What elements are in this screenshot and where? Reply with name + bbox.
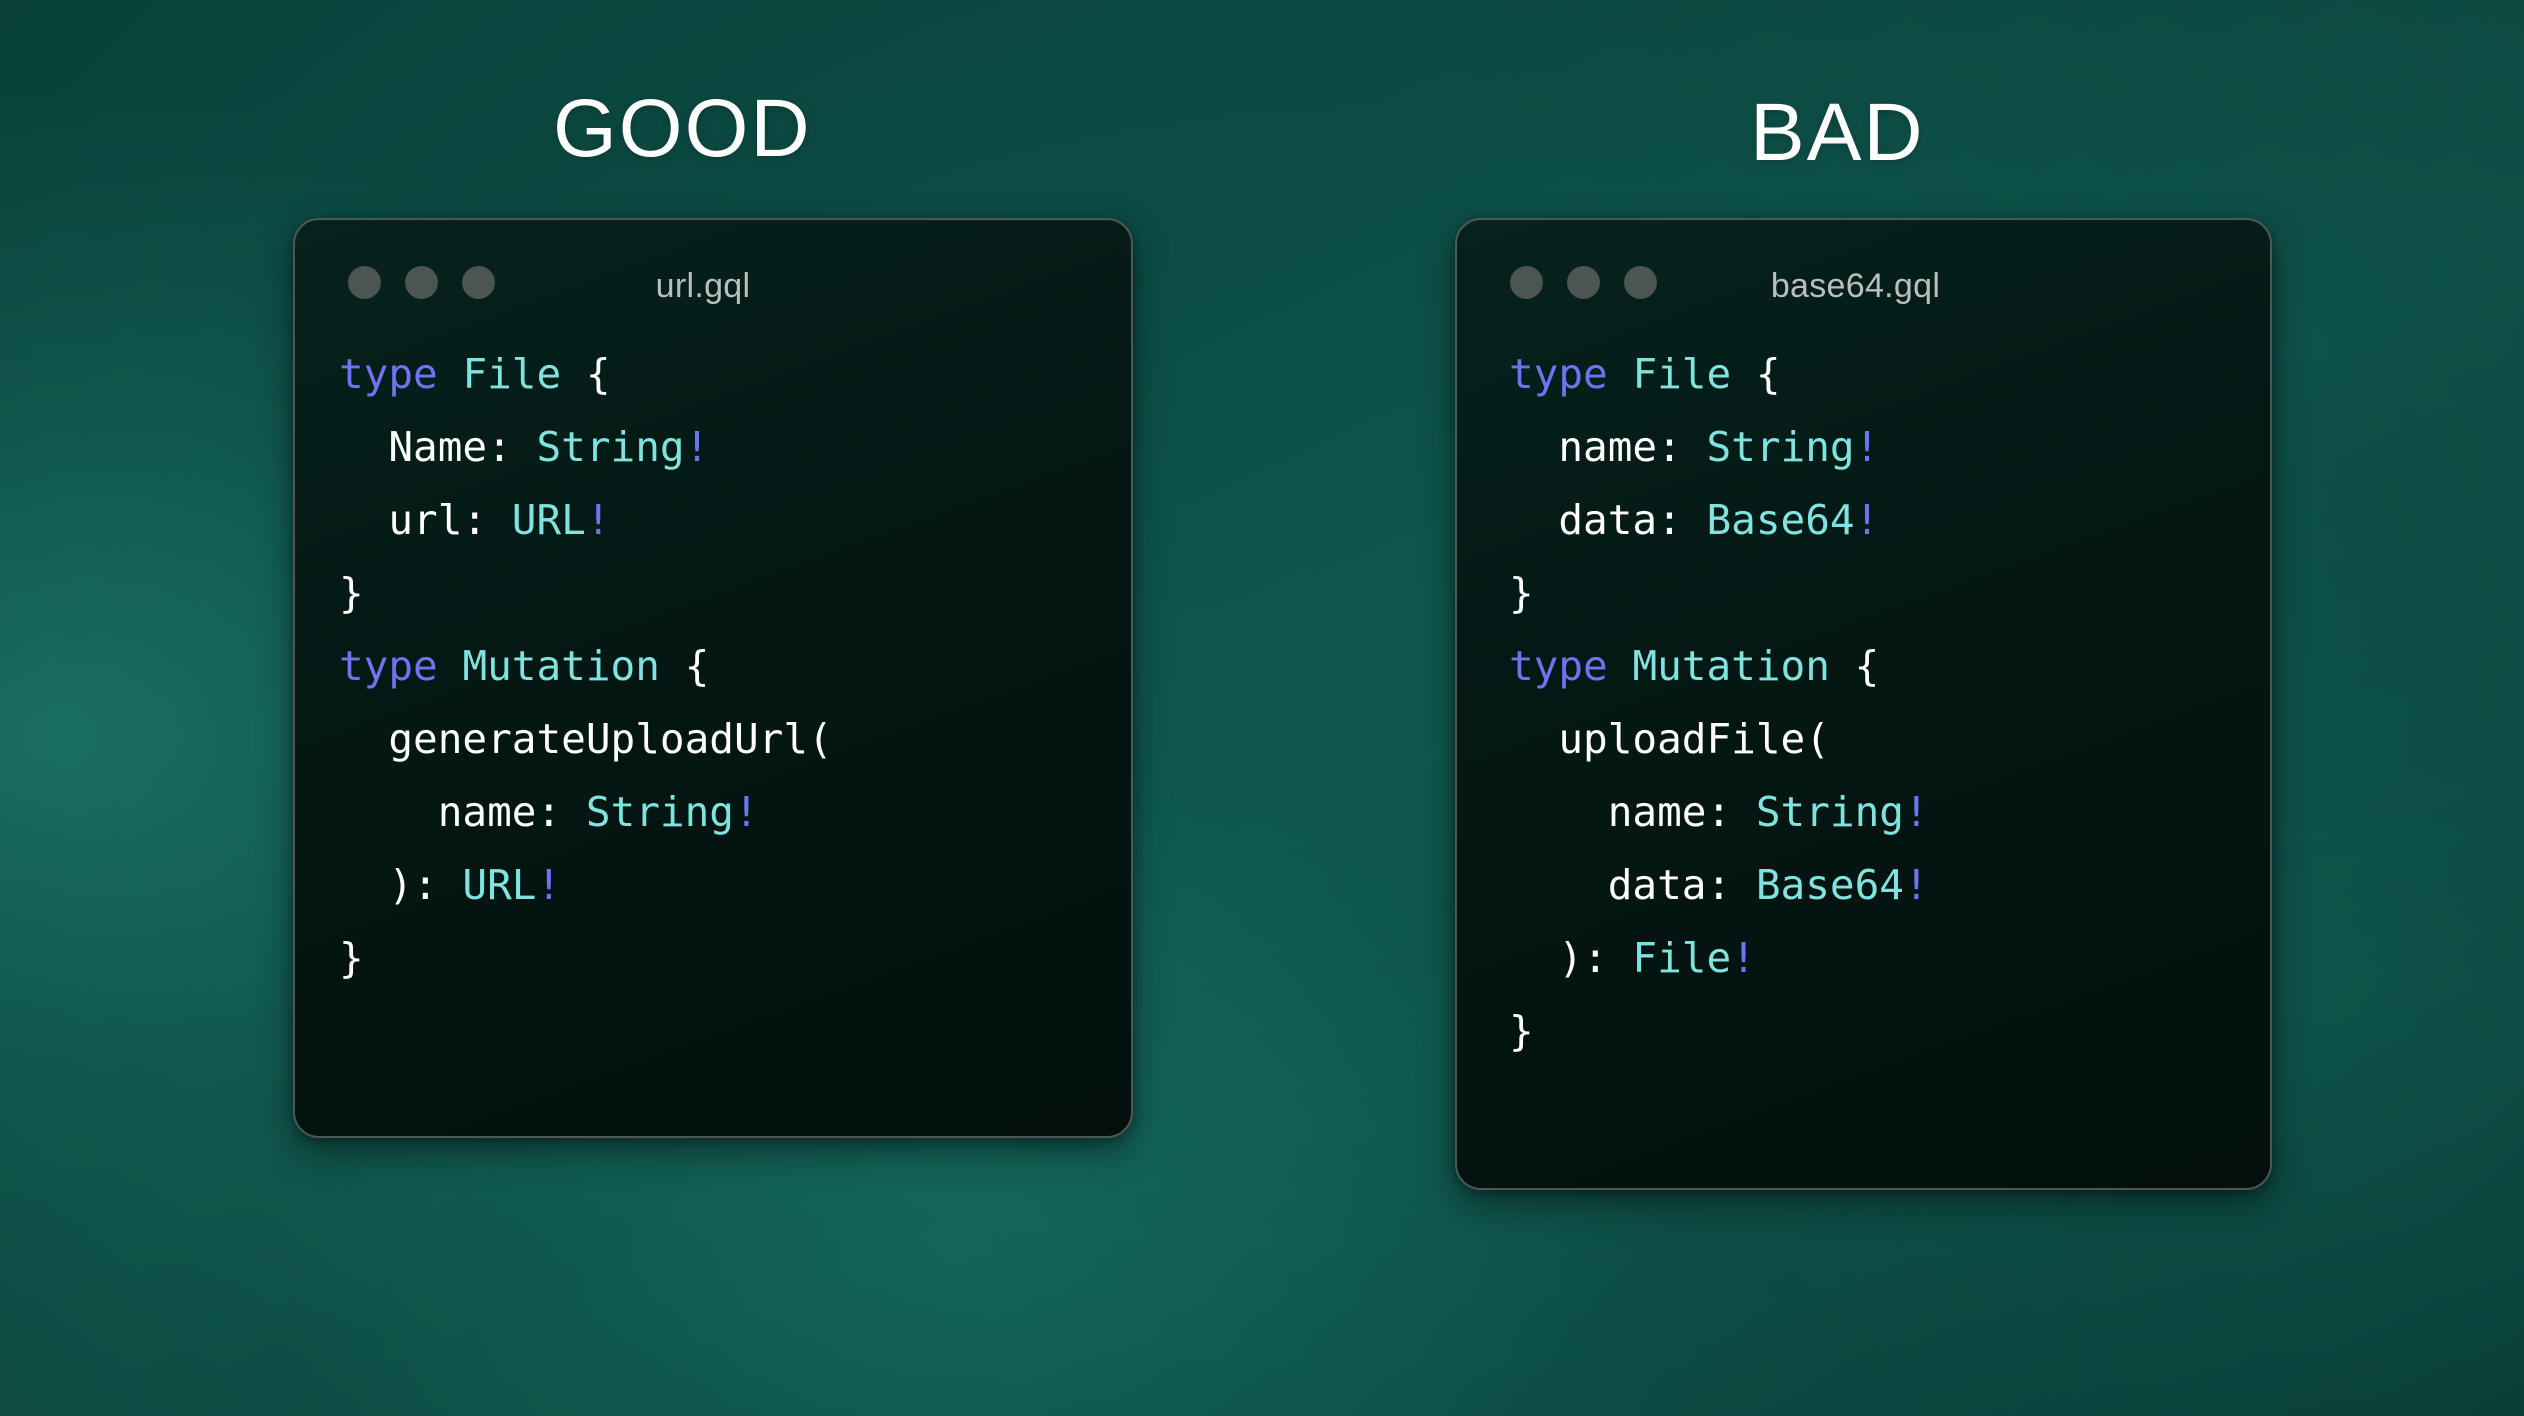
code-token-punct: { [1731, 350, 1780, 398]
code-card-good: url.gql type File { Name: String! url: U… [293, 218, 1133, 1138]
code-token-punct: { [660, 642, 709, 690]
code-token-kw: type [1509, 642, 1608, 690]
code-token-bang: ! [536, 861, 561, 909]
code-block-good: type File { Name: String! url: URL!}type… [295, 332, 1131, 995]
code-token-punct [1608, 350, 1633, 398]
code-line: Name: String! [339, 411, 1131, 484]
code-token-type: Mutation [462, 642, 659, 690]
code-token-name: name: [1509, 423, 1706, 471]
code-card-filename-good: url.gql [295, 267, 1131, 306]
code-token-name: url: [339, 496, 512, 544]
code-line: data: Base64! [1509, 484, 2270, 557]
comparison-stage: GOOD url.gql type File { Name: String! u… [0, 0, 2524, 1416]
code-token-name: Name: [339, 423, 536, 471]
code-line: name: String! [1509, 411, 2270, 484]
code-token-type: File [1632, 350, 1731, 398]
code-token-punct [438, 350, 463, 398]
code-line: type File { [339, 338, 1131, 411]
code-token-type: URL [512, 496, 586, 544]
code-token-punct: } [1509, 569, 1534, 617]
code-token-bang: ! [734, 788, 759, 836]
code-line: name: String! [1509, 776, 2270, 849]
column-heading-good: GOOD [553, 88, 812, 170]
code-token-type: String [1706, 423, 1854, 471]
code-token-name: name: [1509, 788, 1756, 836]
code-token-name: data: [1509, 496, 1706, 544]
code-line: data: Base64! [1509, 849, 2270, 922]
code-token-bang: ! [1904, 788, 1929, 836]
code-token-type: String [1756, 788, 1904, 836]
code-token-name: uploadFile( [1509, 715, 1830, 763]
code-token-punct: { [561, 350, 610, 398]
code-token-punct [438, 642, 463, 690]
code-line: } [339, 557, 1131, 630]
code-token-type: String [536, 423, 684, 471]
code-token-punct: } [1509, 1007, 1534, 1055]
code-token-bang: ! [1855, 423, 1880, 471]
code-block-bad: type File { name: String! data: Base64!}… [1457, 332, 2270, 1068]
code-line: } [1509, 557, 2270, 630]
code-line: type Mutation { [339, 630, 1131, 703]
code-token-name: name: [339, 788, 586, 836]
code-token-type: File [1632, 934, 1731, 982]
code-line: ): File! [1509, 922, 2270, 995]
code-line: generateUploadUrl( [339, 703, 1131, 776]
code-token-name: generateUploadUrl( [339, 715, 833, 763]
code-token-type: URL [462, 861, 536, 909]
code-token-type: Base64 [1756, 861, 1904, 909]
column-heading-bad: BAD [1750, 92, 1925, 174]
code-token-name: ): [1509, 934, 1632, 982]
code-line: } [1509, 995, 2270, 1068]
code-line: url: URL! [339, 484, 1131, 557]
code-token-type: Base64 [1706, 496, 1854, 544]
code-token-bang: ! [586, 496, 611, 544]
code-card-titlebar-bad: base64.gql [1457, 220, 2270, 332]
code-token-punct: } [339, 569, 364, 617]
code-token-bang: ! [1904, 861, 1929, 909]
code-token-punct [1608, 642, 1633, 690]
code-token-bang: ! [1731, 934, 1756, 982]
code-line: ): URL! [339, 849, 1131, 922]
code-line: type Mutation { [1509, 630, 2270, 703]
code-token-name: ): [339, 861, 462, 909]
code-token-type: String [586, 788, 734, 836]
code-token-kw: type [1509, 350, 1608, 398]
code-token-punct: { [1830, 642, 1879, 690]
code-token-kw: type [339, 350, 438, 398]
code-line: uploadFile( [1509, 703, 2270, 776]
code-line: } [339, 922, 1131, 995]
code-token-bang: ! [685, 423, 710, 471]
code-card-bad: base64.gql type File { name: String! dat… [1455, 218, 2272, 1190]
code-card-filename-bad: base64.gql [1457, 267, 2270, 306]
code-card-titlebar-good: url.gql [295, 220, 1131, 332]
code-token-bang: ! [1855, 496, 1880, 544]
code-line: name: String! [339, 776, 1131, 849]
code-token-type: File [462, 350, 561, 398]
code-token-punct: } [339, 934, 364, 982]
code-line: type File { [1509, 338, 2270, 411]
code-token-name: data: [1509, 861, 1756, 909]
code-token-type: Mutation [1632, 642, 1829, 690]
code-token-kw: type [339, 642, 438, 690]
